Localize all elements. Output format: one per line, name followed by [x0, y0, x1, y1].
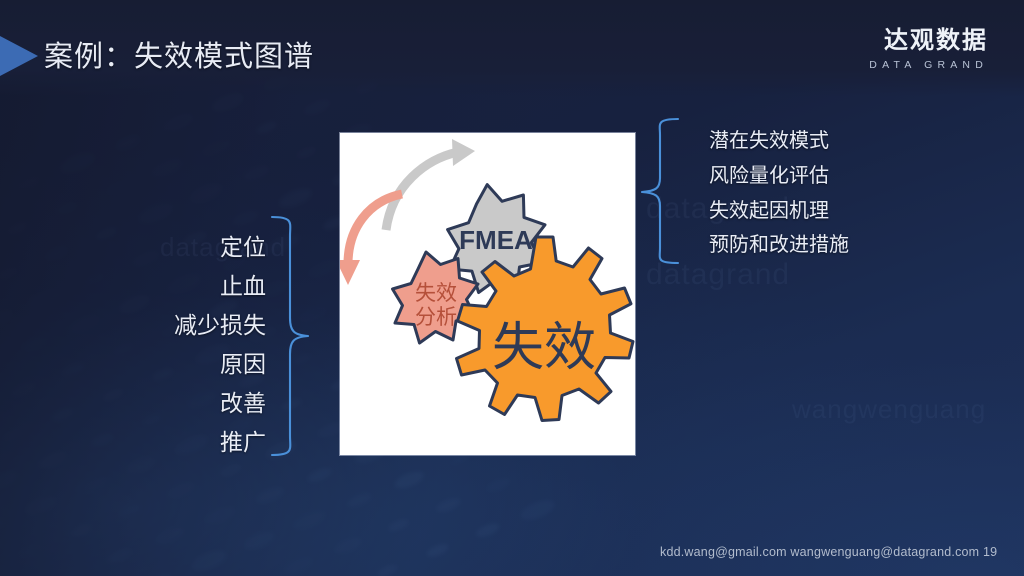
- list-item: 潜在失效模式: [709, 124, 849, 159]
- brand-name-en: DATA GRAND: [869, 59, 988, 71]
- page-title: 案例：失效模式图谱: [44, 33, 314, 75]
- watermark-text: wangwenguang: [792, 394, 986, 425]
- footer-contact: kdd.wang@gmail.com wangwenguang@datagran…: [660, 545, 997, 559]
- slide-canvas: 案例：失效模式图谱 达观数据 DATA GRAND datagrand data…: [0, 0, 1024, 576]
- list-item: 推广: [40, 423, 266, 462]
- gear-analysis-label-line1: 失效: [415, 281, 457, 305]
- left-keyword-list: 定位 止血 减少损失 原因 改善 推广: [40, 228, 266, 462]
- list-item: 定位: [40, 228, 266, 267]
- gear-diagram-image: FMEA 失效 分析 失效: [340, 133, 635, 455]
- triangle-right-icon: [0, 36, 38, 76]
- right-brace-icon: [638, 116, 682, 271]
- list-item: 止血: [40, 267, 266, 306]
- list-item: 减少损失: [40, 306, 266, 345]
- left-brace-icon: [268, 214, 312, 463]
- brand-name-cn: 达观数据: [869, 27, 988, 55]
- list-item: 失效起因机理: [709, 194, 849, 229]
- gear-fmea-label: FMEA: [459, 225, 533, 255]
- list-item: 原因: [40, 345, 266, 384]
- gear-failure-label: 失效: [492, 320, 596, 377]
- list-item: 风险量化评估: [709, 159, 849, 194]
- right-keyword-list: 潜在失效模式 风险量化评估 失效起因机理 预防和改进措施: [709, 124, 849, 263]
- gear-analysis-label-line2: 分析: [415, 305, 457, 329]
- list-item: 预防和改进措施: [709, 228, 849, 263]
- list-item: 改善: [40, 384, 266, 423]
- brand-logo: 达观数据 DATA GRAND: [869, 27, 988, 71]
